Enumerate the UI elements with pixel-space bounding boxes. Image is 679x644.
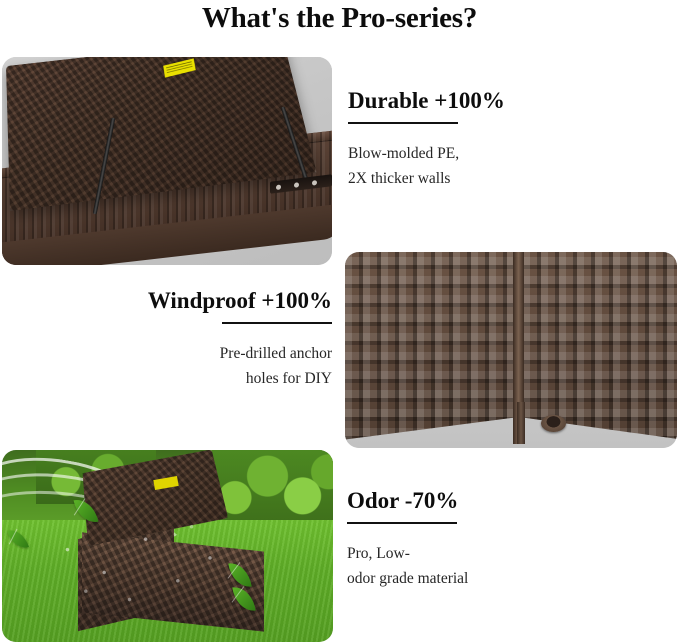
feature-body-line: holes for DIY [20, 366, 332, 391]
feature-body-windproof: Pre-drilled anchor holes for DIY [20, 341, 332, 391]
feature-body-line: 2X thicker walls [348, 166, 658, 191]
heading-underline-windproof [222, 322, 332, 324]
corner-foot [517, 402, 525, 444]
feature-heading-windproof: Windproof +100% [20, 288, 332, 313]
feature-heading-odor: Odor -70% [347, 488, 657, 513]
odor-particles [26, 508, 256, 612]
wicker-panel-right [519, 252, 677, 440]
wicker-weave-texture [345, 252, 519, 440]
wicker-panel-left [345, 252, 519, 440]
feature-body-durable: Blow-molded PE, 2X thicker walls [348, 141, 658, 191]
page-title: What's the Pro-series? [0, 2, 679, 35]
anchor-hole [541, 415, 566, 432]
heading-underline-odor [347, 522, 457, 524]
open-deck-box-photo [2, 57, 332, 265]
wicker-weave-texture [519, 252, 677, 440]
wicker-corner-photo [345, 252, 677, 448]
feature-block-windproof: Windproof +100% Pre-drilled anchor holes… [20, 288, 332, 391]
feature-body-line: Pro, Low- [347, 541, 657, 566]
feature-body-line: Blow-molded PE, [348, 141, 658, 166]
feature-block-durable: Durable +100% Blow-molded PE, 2X thicker… [348, 88, 658, 191]
feature-block-odor: Odor -70% Pro, Low- odor grade material [347, 488, 657, 591]
feature-body-line: Pre-drilled anchor [20, 341, 332, 366]
feature-body-line: odor grade material [347, 566, 657, 591]
heading-underline-durable [348, 122, 458, 124]
lawn-deck-box-photo [2, 450, 333, 642]
feature-heading-durable: Durable +100% [348, 88, 658, 113]
feature-body-odor: Pro, Low- odor grade material [347, 541, 657, 591]
